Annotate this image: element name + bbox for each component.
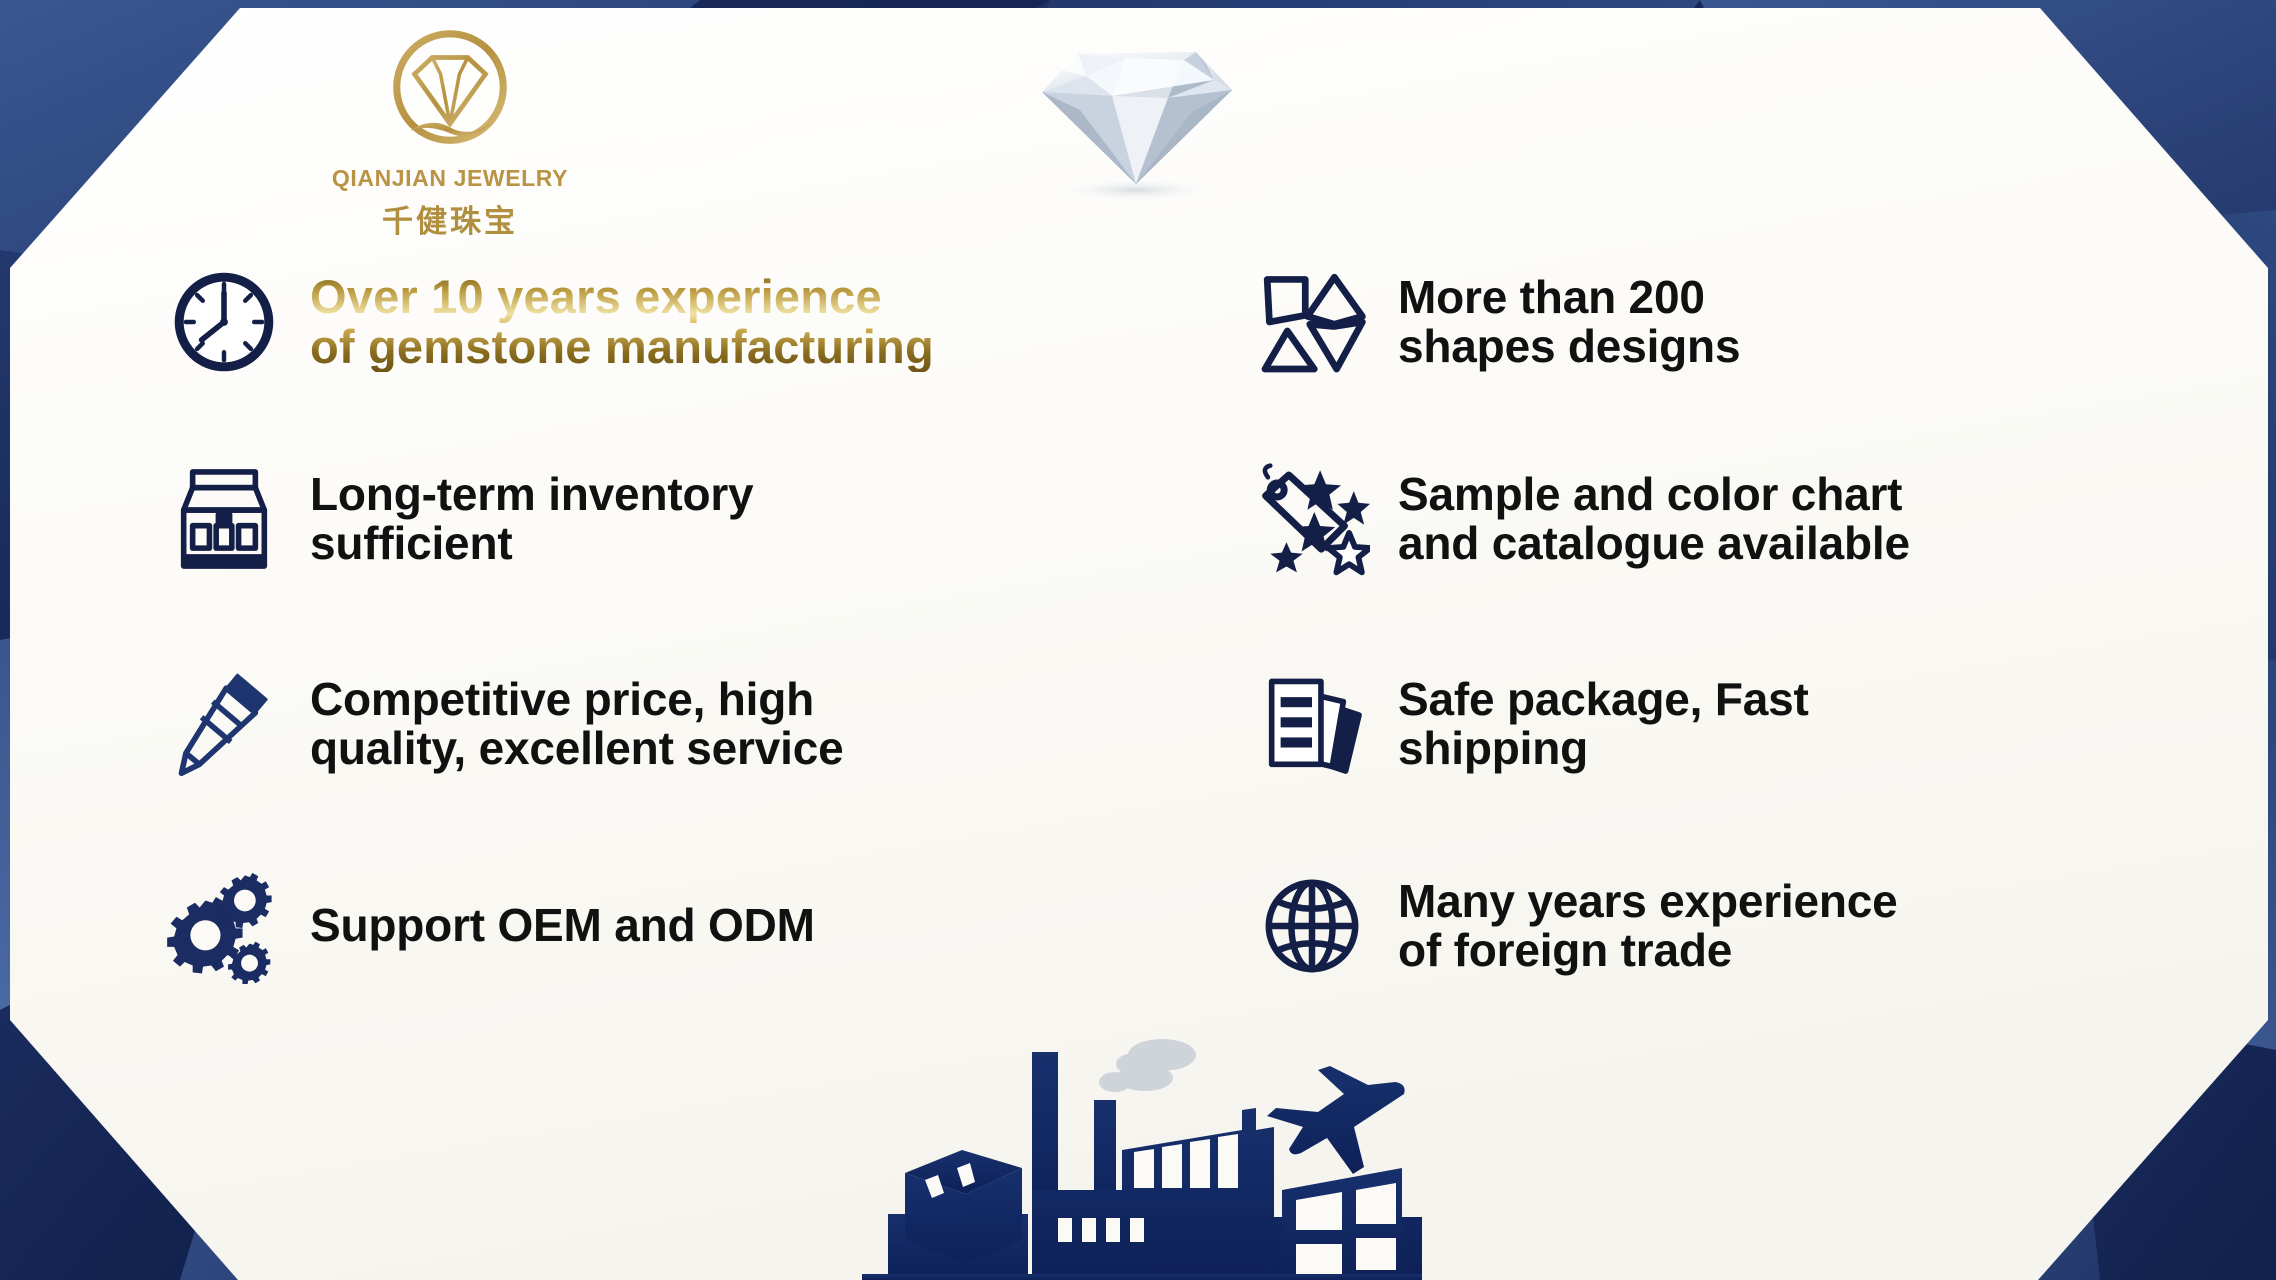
feature-text: Safe package, Fast shipping [1398,675,1809,773]
warehouse-icon [160,455,288,583]
feature-item: More than 200 shapes designs [1248,258,1740,386]
documents-stack-icon [1248,660,1376,788]
feature-text: Long-term inventory sufficient [310,470,753,568]
feature-line-1: Competitive price, high [310,675,843,724]
feature-line-2: shapes designs [1398,322,1740,371]
feature-text: More than 200 shapes designs [1398,273,1740,371]
feature-line-1: Long-term inventory [310,470,753,519]
gears-icon [160,862,288,990]
feature-line-2: and catalogue available [1398,519,1910,568]
feature-line-1: Support OEM and ODM [310,901,815,950]
feature-line-2: sufficient [310,519,753,568]
factory-airplane-shipping-silhouette [862,1018,1422,1280]
feature-item: Sample and color chart and catalogue ava… [1248,455,1910,583]
price-tag-stars-icon [1248,455,1376,583]
feature-text: Support OEM and ODM [310,901,815,950]
feature-text: Competitive price, high quality, excelle… [310,675,843,773]
feature-line-2: shipping [1398,724,1809,773]
feature-text: Sample and color chart and catalogue ava… [1398,470,1910,568]
geometric-shapes-icon [1248,258,1376,386]
feature-line-1: More than 200 [1398,273,1740,322]
feature-item: Safe package, Fast shipping [1248,660,1809,788]
feature-line-1: Safe package, Fast [1398,675,1809,724]
diamond-monogram-logo-icon [379,22,521,164]
brand-logo: QIANJIAN JEWELRY 千健珠宝 [330,22,570,241]
globe-icon [1248,862,1376,990]
feature-item: Long-term inventory sufficient [160,455,753,583]
feature-line-2: quality, excellent service [310,724,843,773]
feature-item: Support OEM and ODM [160,862,815,990]
pencil-icon [160,660,288,788]
hero-diamond-image [1000,14,1270,204]
feature-item: Over 10 years experience of gemstone man… [160,258,934,386]
clock-icon [160,258,288,386]
feature-text: Over 10 years experience of gemstone man… [310,272,934,373]
feature-item: Many years experience of foreign trade [1248,862,1898,990]
brand-name-en: QIANJIAN JEWELRY [330,165,570,192]
feature-line-1: Over 10 years experience [310,272,934,322]
brand-name-cn: 千健珠宝 [330,196,570,241]
feature-line-1: Many years experience [1398,877,1898,926]
feature-line-2: of gemstone manufacturing [310,322,934,372]
feature-text: Many years experience of foreign trade [1398,877,1898,975]
feature-item: Competitive price, high quality, excelle… [160,660,843,788]
feature-line-1: Sample and color chart [1398,470,1910,519]
feature-line-2: of foreign trade [1398,926,1898,975]
